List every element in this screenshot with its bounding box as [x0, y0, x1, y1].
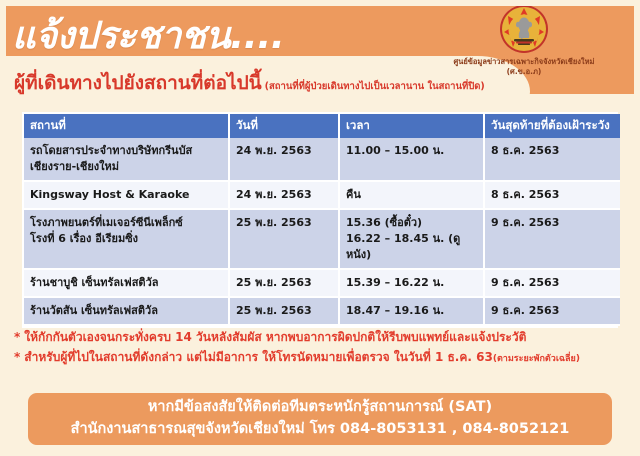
advisory-list: * ให้กักกันตัวเองจนกระทั่งครบ 14 วันหลัง…	[14, 328, 630, 368]
cell-last-day: 9 ธ.ค. 2563	[484, 297, 620, 325]
table-row: Kingsway Host & Karaoke 24 พ.ย. 2563 คืน…	[24, 181, 620, 209]
cell-last-day: 8 ธ.ค. 2563	[484, 138, 620, 181]
cell-time: 15.39 – 16.22 น.	[339, 269, 484, 297]
advisory-text: ให้กักกันตัวเองจนกระทั่งครบ 14 วันหลังสั…	[24, 328, 526, 348]
cell-place: ร้านชาบูชิ เซ็นทรัลเฟสติวัล	[24, 269, 229, 297]
footer-line-2: สำนักงานสาธารณสุขจังหวัดเชียงใหม่ โทร 08…	[71, 419, 570, 441]
cell-date: 24 พ.ย. 2563	[229, 181, 339, 209]
time-line-1: 15.39 – 16.22 น.	[346, 275, 477, 291]
column-header-last-day: วันสุดท้ายที่ต้องเฝ้าระวัง	[484, 114, 620, 138]
cell-time: คืน	[339, 181, 484, 209]
subtitle: ผู้ที่เดินทางไปยังสถานที่ต่อไปนี้ (สถานท…	[14, 68, 485, 98]
contact-footer: หากมีข้อสงสัยให้ติดต่อทีมตระหนักรู้สถานก…	[28, 393, 612, 445]
list-item: * ให้กักกันตัวเองจนกระทั่งครบ 14 วันหลัง…	[14, 328, 630, 348]
cell-place: ร้านวัตสัน เซ็นทรัลเฟสติวัล	[24, 297, 229, 325]
table-row: โรงภาพยนตร์ที่เมเจอร์ซีนีเพล็กซ์ โรงที่ …	[24, 209, 620, 269]
bullet-marker-icon: *	[14, 348, 20, 368]
cell-date: 25 พ.ย. 2563	[229, 269, 339, 297]
time-line-1: 15.36 (ซื้อตั๋ว)	[346, 215, 477, 231]
time-line-1: 18.47 – 19.16 น.	[346, 303, 477, 319]
time-line-1: 11.00 – 15.00 น.	[346, 143, 477, 159]
logo-caption-line-1: ศูนย์ข้อมูลข่าวสารเฉพาะกิจจังหวัดเชียงให…	[424, 57, 624, 67]
subtitle-note-text: (สถานที่ที่ผู้ป่วยเดินทางไปเป็นเวลานาน ใ…	[265, 79, 485, 94]
table-row: รถโดยสารประจำทางบริษัทกรีนบัส เชียงราย-เ…	[24, 138, 620, 181]
table-row: ร้านชาบูชิ เซ็นทรัลเฟสติวัล 25 พ.ย. 2563…	[24, 269, 620, 297]
logo-caption-line-2: (ศ.ข.อ.ภ)	[424, 67, 624, 77]
cell-place: Kingsway Host & Karaoke	[24, 181, 229, 209]
place-line-1: ร้านวัตสัน เซ็นทรัลเฟสติวัล	[30, 303, 222, 319]
bullet-marker-icon: *	[14, 328, 20, 348]
cell-place: โรงภาพยนตร์ที่เมเจอร์ซีนีเพล็กซ์ โรงที่ …	[24, 209, 229, 269]
cell-time: 11.00 – 15.00 น.	[339, 138, 484, 181]
cell-place: รถโดยสารประจำทางบริษัทกรีนบัส เชียงราย-เ…	[24, 138, 229, 181]
locations-table: สถานที่ วันที่ เวลา วันสุดท้ายที่ต้องเฝ้…	[24, 114, 620, 326]
logo-caption: ศูนย์ข้อมูลข่าวสารเฉพาะกิจจังหวัดเชียงให…	[424, 57, 624, 77]
cell-time: 15.36 (ซื้อตั๋ว) 16.22 – 18.45 น. (ดูหนั…	[339, 209, 484, 269]
place-line-2: เชียงราย-เชียงใหม่	[30, 159, 222, 175]
time-line-1: คืน	[346, 187, 477, 203]
column-header-time: เวลา	[339, 114, 484, 138]
advisory-text: สำหรับผู้ที่ไปในสถานที่ดังกล่าว แต่ไม่มี…	[24, 348, 493, 368]
cell-time: 18.47 – 19.16 น.	[339, 297, 484, 325]
cell-last-day: 9 ธ.ค. 2563	[484, 209, 620, 269]
place-line-1: โรงภาพยนตร์ที่เมเจอร์ซีนีเพล็กซ์	[30, 215, 222, 231]
subtitle-main-text: ผู้ที่เดินทางไปยังสถานที่ต่อไปนี้	[14, 68, 262, 98]
table-header-row: สถานที่ วันที่ เวลา วันสุดท้ายที่ต้องเฝ้…	[24, 114, 620, 138]
provincial-seal-icon	[499, 4, 549, 54]
page-title: แจ้งประชาชน....	[12, 6, 284, 65]
locations-table-container: สถานที่ วันที่ เวลา วันสุดท้ายที่ต้องเฝ้…	[22, 112, 618, 328]
announcement-poster: แจ้งประชาชน.... ผู้ที่เดินทางไปยังสถานที…	[0, 0, 640, 456]
column-header-date: วันที่	[229, 114, 339, 138]
advisory-tail: (ตามระยะพักตัวเฉลี่ย)	[493, 352, 580, 367]
time-line-2: 16.22 – 18.45 น. (ดูหนัง)	[346, 231, 477, 263]
cell-last-day: 8 ธ.ค. 2563	[484, 181, 620, 209]
table-row: ร้านวัตสัน เซ็นทรัลเฟสติวัล 25 พ.ย. 2563…	[24, 297, 620, 325]
cell-last-day: 9 ธ.ค. 2563	[484, 269, 620, 297]
list-item: * สำหรับผู้ที่ไปในสถานที่ดังกล่าว แต่ไม่…	[14, 348, 630, 368]
place-line-1: รถโดยสารประจำทางบริษัทกรีนบัส	[30, 143, 222, 159]
place-line-1: ร้านชาบูชิ เซ็นทรัลเฟสติวัล	[30, 275, 222, 291]
column-header-place: สถานที่	[24, 114, 229, 138]
logo-block: ศูนย์ข้อมูลข่าวสารเฉพาะกิจจังหวัดเชียงให…	[424, 4, 624, 77]
cell-date: 25 พ.ย. 2563	[229, 297, 339, 325]
place-line-1: Kingsway Host & Karaoke	[30, 187, 222, 203]
cell-date: 24 พ.ย. 2563	[229, 138, 339, 181]
footer-line-1: หากมีข้อสงสัยให้ติดต่อทีมตระหนักรู้สถานก…	[148, 397, 492, 419]
place-line-2: โรงที่ 6 เรื่อง อีเรียมซิ่ง	[30, 231, 222, 247]
cell-date: 25 พ.ย. 2563	[229, 209, 339, 269]
